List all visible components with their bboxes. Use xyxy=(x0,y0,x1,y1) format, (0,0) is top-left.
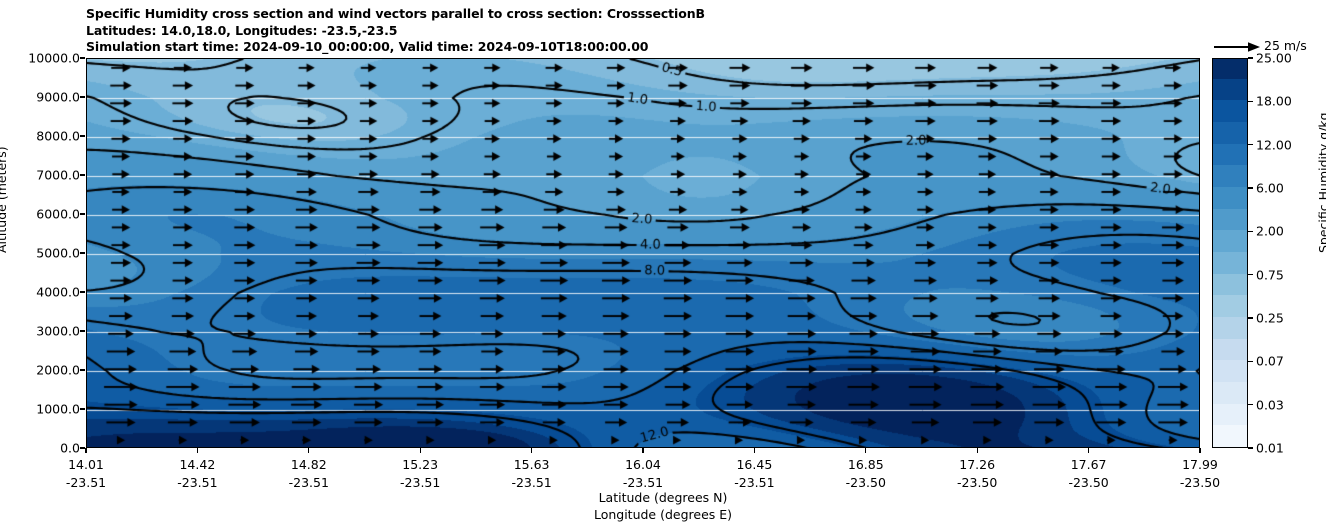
colorbar-tick-mark xyxy=(1248,101,1253,102)
colorbar-band xyxy=(1213,143,1247,165)
colorbar-band xyxy=(1213,121,1247,143)
wind-vectors xyxy=(87,59,1200,448)
colorbar-band xyxy=(1213,316,1247,338)
x-axis-tick-mark xyxy=(1088,448,1089,453)
x-axis-tick-mark xyxy=(197,448,198,453)
colorbar-tick-label: 2.00 xyxy=(1256,224,1284,239)
y-axis-tick-label: 3000.0 xyxy=(0,324,80,339)
y-axis-tick-label: 6000.0 xyxy=(0,207,80,222)
colorbar-band xyxy=(1213,273,1247,295)
colorbar-tick-label: 12.00 xyxy=(1256,137,1292,152)
y-axis-tick-mark xyxy=(80,447,85,448)
x-axis-tick-mark xyxy=(1199,448,1200,453)
x-axis-label-longitude: Longitude (degrees E) xyxy=(0,507,1326,522)
colorbar-band xyxy=(1213,295,1247,317)
x-axis-tick-mark xyxy=(531,448,532,453)
quiver-key-arrow-icon xyxy=(1212,36,1262,58)
colorbar-band xyxy=(1213,165,1247,187)
colorbar-tick-label: 18.00 xyxy=(1256,94,1292,109)
colorbar-tick-label: 0.03 xyxy=(1256,397,1284,412)
y-axis-tick-mark xyxy=(80,57,85,58)
colorbar-tick-mark xyxy=(1248,57,1253,58)
colorbar-label: Specific Humidity g/kg xyxy=(1316,112,1326,253)
title-line-3: Simulation start time: 2024-09-10_00:00:… xyxy=(86,39,705,56)
colorbar-tick-mark xyxy=(1248,187,1253,188)
y-axis-tick-mark xyxy=(80,291,85,292)
colorbar-tick-mark xyxy=(1248,361,1253,362)
colorbar-band xyxy=(1213,186,1247,208)
y-axis-tick-label: 10000.0 xyxy=(0,51,80,66)
colorbar-band xyxy=(1213,58,1247,79)
y-axis-tick-label: 2000.0 xyxy=(0,363,80,378)
y-axis-label: Altitude (meters) xyxy=(0,146,9,253)
colorbar-tick-label: 0.07 xyxy=(1256,354,1284,369)
y-axis-tick-mark xyxy=(80,252,85,253)
x-axis-tick-mark xyxy=(977,448,978,453)
x-axis-label-latitude: Latitude (degrees N) xyxy=(0,490,1326,505)
x-axis-tick-mark xyxy=(420,448,421,453)
colorbar-band xyxy=(1213,251,1247,273)
y-axis-tick-mark xyxy=(80,369,85,370)
cross-section-plot[interactable] xyxy=(86,58,1200,448)
colorbar-tick-label: 0.25 xyxy=(1256,311,1284,326)
colorbar-tick-mark xyxy=(1248,274,1253,275)
y-axis-tick-label: 8000.0 xyxy=(0,129,80,144)
colorbar-tick-label: 0.01 xyxy=(1256,441,1284,456)
colorbar-tick-mark xyxy=(1248,447,1253,448)
colorbar-tick-mark xyxy=(1248,317,1253,318)
title-line-1: Specific Humidity cross section and wind… xyxy=(86,6,705,23)
figure-root: Specific Humidity cross section and wind… xyxy=(0,0,1326,526)
x-axis-tick-mark xyxy=(308,448,309,453)
colorbar-band xyxy=(1213,230,1247,252)
x-axis-tick-mark xyxy=(642,448,643,453)
colorbar-tick-mark xyxy=(1248,144,1253,145)
colorbar-tick-label: 25.00 xyxy=(1256,51,1292,66)
y-axis-tick-label: 1000.0 xyxy=(0,402,80,417)
y-axis-tick-mark xyxy=(80,96,85,97)
y-axis-tick-mark xyxy=(80,174,85,175)
y-axis-tick-mark xyxy=(80,408,85,409)
y-axis-tick-label: 7000.0 xyxy=(0,168,80,183)
x-axis-tick-mark xyxy=(865,448,866,453)
y-axis-tick-mark xyxy=(80,330,85,331)
colorbar-band xyxy=(1213,425,1247,447)
y-axis-tick-label: 4000.0 xyxy=(0,285,80,300)
colorbar-band xyxy=(1213,403,1247,425)
x-axis-tick-mark xyxy=(85,448,86,453)
y-axis-tick-label: 0.0 xyxy=(0,441,80,456)
y-axis-tick-label: 5000.0 xyxy=(0,246,80,261)
y-axis-tick-mark xyxy=(80,135,85,136)
y-axis-tick-label: 9000.0 xyxy=(0,90,80,105)
y-axis-tick-mark xyxy=(80,213,85,214)
colorbar-band xyxy=(1213,100,1247,122)
colorbar-tick-mark xyxy=(1248,231,1253,232)
colorbar-band xyxy=(1213,338,1247,360)
colorbar-band xyxy=(1213,360,1247,382)
colorbar-tick-mark xyxy=(1248,404,1253,405)
colorbar-tick-label: 0.75 xyxy=(1256,267,1284,282)
figure-title: Specific Humidity cross section and wind… xyxy=(86,6,705,56)
colorbar-tick-label: 6.00 xyxy=(1256,181,1284,196)
x-axis-tick-label-group: 17.99-23.50 xyxy=(1130,456,1270,492)
x-axis-tick-mark xyxy=(754,448,755,453)
colorbar[interactable] xyxy=(1212,58,1248,448)
title-line-2: Latitudes: 14.0,18.0, Longitudes: -23.5,… xyxy=(86,23,705,40)
colorbar-band xyxy=(1213,381,1247,403)
x-axis-tick-label-latitude: 17.99 xyxy=(1130,456,1270,474)
colorbar-band xyxy=(1213,208,1247,230)
colorbar-band xyxy=(1213,78,1247,100)
